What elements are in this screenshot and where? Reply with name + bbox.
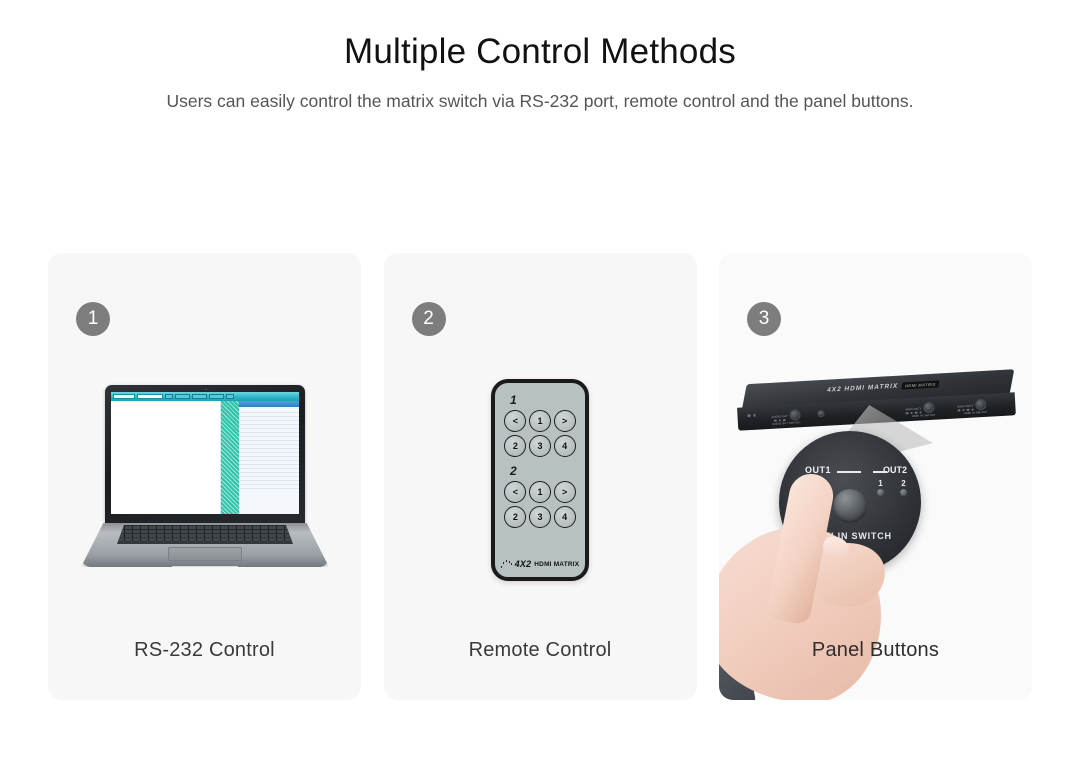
toolbar-icon-button (165, 394, 173, 399)
card-label-rs232: RS-232 Control (48, 639, 361, 662)
hdmi-out1-led-icon (906, 412, 909, 415)
device-hdmi-out2-group: HDMI OUT2 (957, 399, 987, 412)
hdmi-out1-led-icon (919, 411, 922, 414)
software-toolbar (111, 392, 299, 401)
hdmi-out2-led-icon (962, 409, 965, 412)
control-methods-card-list: 1 (48, 253, 1032, 700)
device-brand-badge: HDMI MATRIX (901, 380, 939, 389)
laptop-screen (111, 392, 299, 514)
port-select-dropdown (113, 394, 135, 399)
laptop-webcam-icon (205, 388, 207, 390)
remote-button-next-1[interactable]: > (554, 410, 576, 432)
audio-out-switch-knob[interactable] (789, 409, 801, 421)
remote-button-3-1[interactable]: 3 (529, 435, 551, 457)
software-body (111, 401, 299, 514)
remote-button-2-1[interactable]: 2 (504, 435, 526, 457)
device-audio-out-group: AUDIO OUT (771, 409, 801, 422)
remote-control-illustration: 1 < 1 > 2 3 4 2 < 1 > 2 3 4 (491, 379, 589, 581)
card-rs232-control[interactable]: 1 (48, 253, 361, 700)
ir-receiver-icon (817, 410, 824, 417)
hdmi-out1-led-icon (910, 411, 913, 414)
remote-button-1-2[interactable]: 1 (529, 481, 551, 503)
close-button (192, 394, 207, 399)
remote-button-prev-1[interactable]: < (504, 410, 526, 432)
laptop-front-foot (172, 566, 238, 570)
hdmi-in-switch-knob-2[interactable] (975, 399, 987, 411)
remote-button-next-2[interactable]: > (554, 481, 576, 503)
remote-section-1-buttons: < 1 > 2 3 4 (504, 410, 576, 457)
audio-out-led-icon (779, 419, 782, 422)
laptop-keyboard (117, 525, 293, 544)
laptop-lid (105, 385, 305, 525)
card-badge-2: 2 (412, 302, 446, 336)
audio-out-led-icon (774, 419, 777, 422)
page-subtitle: Users can easily control the matrix swit… (140, 88, 940, 115)
card-badge-3: 3 (747, 302, 781, 336)
card-badge-1: 1 (76, 302, 110, 336)
hdmi-in-switch-knob-1[interactable] (923, 402, 935, 414)
remote-section-2-number: 2 (510, 464, 576, 478)
software-log-area (111, 401, 221, 514)
remote-button-4-2[interactable]: 4 (554, 506, 576, 528)
laptop-trackpad (168, 547, 242, 561)
laptop-base (81, 523, 329, 567)
hdmi-out1-led-icon (915, 411, 918, 414)
side-panel-rows (239, 407, 299, 489)
page-root: Multiple Control Methods Users can easil… (0, 0, 1080, 757)
device-hdmi-out1-group: HDMI OUT1 (905, 402, 935, 415)
card-label-remote: Remote Control (384, 639, 697, 662)
header: Multiple Control Methods Users can easil… (0, 0, 1080, 115)
settings-button (226, 394, 234, 399)
hdmi-in-switch-caption-2: HDMI IN SWITCH (964, 411, 988, 415)
software-texture-strip (221, 401, 239, 514)
remote-button-4-1[interactable]: 4 (554, 435, 576, 457)
hdmi-out2-led-icon (957, 409, 960, 412)
card-remote-control[interactable]: 2 1 < 1 > 2 3 4 2 < 1 > 2 3 (384, 253, 697, 700)
remote-button-3-2[interactable]: 3 (529, 506, 551, 528)
remote-button-1-1[interactable]: 1 (529, 410, 551, 432)
device-ir-window (817, 410, 824, 417)
device-brand-text: 4X2 HDMI MATRIX HDMI MATRIX (826, 380, 939, 393)
remote-brand-model: 4X2 (515, 559, 532, 569)
page-title: Multiple Control Methods (0, 32, 1080, 72)
hand-pressing-button (719, 471, 919, 700)
command-input-field (137, 394, 163, 399)
power-led-icon (747, 414, 750, 417)
remote-section-2-buttons: < 1 > 2 3 4 (504, 481, 576, 528)
remote-button-prev-2[interactable]: < (504, 481, 526, 503)
device-ir-indicators (747, 414, 755, 417)
card-label-panel-buttons: Panel Buttons (719, 639, 1032, 662)
ir-led-icon (753, 414, 756, 417)
remote-section-1-number: 1 (510, 393, 576, 407)
remote-button-2-2[interactable]: 2 (504, 506, 526, 528)
remote-brand-name: HDMI MATRIX (534, 561, 579, 568)
device-brand-label: 4X2 HDMI MATRIX (826, 383, 898, 394)
remote-brand: 4X2 HDMI MATRIX (495, 559, 585, 569)
audio-out-led-icon (783, 419, 786, 422)
software-side-panel (239, 401, 299, 514)
clear-log-button (209, 394, 224, 399)
hdmi-out2-led-icon (966, 408, 969, 411)
hdmi-in-switch-caption-1: HDMI IN SWITCH (912, 414, 936, 418)
laptop-illustration (81, 385, 329, 583)
hdmi-out2-led-icon (971, 408, 974, 411)
brand-dots-logo-icon (501, 560, 512, 568)
audio-out-switch-caption: AUDIO OUT SWITCH (772, 421, 801, 426)
open-button (175, 394, 190, 399)
card-panel-buttons[interactable]: 3 4X2 HDMI MATRIX HDMI MATRIX (719, 253, 1032, 700)
